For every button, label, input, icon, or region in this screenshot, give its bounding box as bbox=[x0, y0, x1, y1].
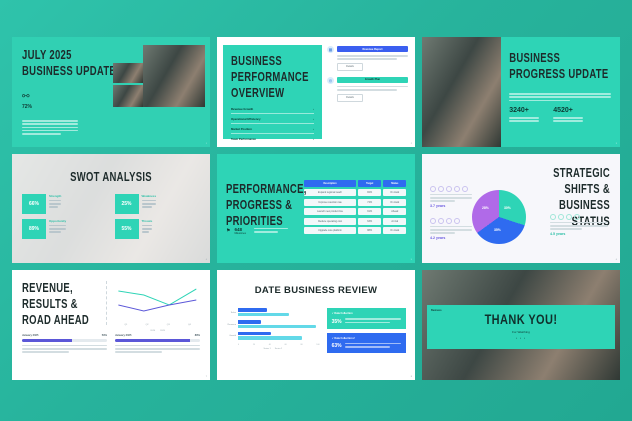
card-heading: ✓ Data Collection 2 bbox=[332, 337, 401, 340]
table-row[interactable]: Upgrade core platform 88% On track bbox=[304, 227, 406, 234]
pie-value-a: 30% bbox=[504, 206, 511, 210]
xtick: 80 bbox=[301, 344, 303, 346]
bar-category-label: Growth bbox=[226, 335, 236, 337]
swot-percent: 66% bbox=[22, 194, 46, 214]
row-label: Team Performance bbox=[231, 137, 256, 141]
slide8-title-wrap: DATE BUSINESS REVIEW bbox=[226, 280, 406, 298]
table-row[interactable]: Improve retention rate 74% On track bbox=[304, 199, 406, 206]
card-data-collection-1[interactable]: ✓ Data Collection 35% bbox=[327, 308, 406, 329]
slide-swot-analysis[interactable]: SWOT ANALYSIS 66% Strength 25% Weakness bbox=[12, 154, 210, 264]
table-cell: At risk bbox=[383, 218, 406, 225]
slide3-page-number: 3 bbox=[616, 143, 617, 145]
table-cell: On track bbox=[383, 189, 406, 196]
slide-title[interactable]: JULY 2025 BUSINESS UPDATE ⚯ 72% 1 bbox=[12, 37, 210, 147]
progress-track bbox=[115, 339, 200, 341]
card-caption bbox=[345, 318, 401, 325]
card-heading-text: Data Collection 2 bbox=[334, 337, 354, 340]
slide1-paragraph bbox=[22, 120, 78, 135]
slide5-left: PERFORMANCE, PROGRESS & PRIORITIES ⚑ 648… bbox=[217, 182, 304, 235]
bar-group: Sales bbox=[226, 308, 320, 317]
line-chart-xticks: Q1 Q2 Q3 Q4 bbox=[115, 324, 200, 326]
revenue-report-button[interactable]: Revenue Report bbox=[337, 46, 408, 52]
stat-caption bbox=[509, 117, 539, 122]
bar-group: Revenue bbox=[226, 320, 320, 329]
table-header-cell: Description bbox=[304, 180, 356, 187]
slide-performance-overview[interactable]: BUSINESS PERFORMANCE OVERVIEW Revenue Gr… bbox=[217, 37, 415, 147]
slide-strategic-shifts[interactable]: STRATEGIC SHIFTS & BUSINESS STATUS 30% 3… bbox=[422, 154, 620, 264]
details-button[interactable]: Details bbox=[337, 94, 363, 102]
progress-label: January 2025 bbox=[22, 334, 38, 337]
photo-office-handshake bbox=[422, 37, 501, 147]
slide8-columns: Sales Revenue Growth bbox=[226, 308, 406, 353]
card-percent: 63% bbox=[332, 343, 342, 349]
swot-text: Strength bbox=[49, 194, 61, 214]
table-cell: Reduce operating cost bbox=[304, 218, 356, 225]
slide1-title: JULY 2025 BUSINESS UPDATE bbox=[22, 48, 121, 80]
line-chart: Q1 Q2 Q3 Q4 2024 2025 bbox=[115, 281, 200, 325]
legend-dots bbox=[430, 186, 472, 192]
brand-logo: Business bbox=[431, 309, 442, 312]
table-cell: Upgrade core platform bbox=[304, 227, 356, 234]
legend-dots bbox=[550, 214, 608, 220]
swot-label: Threats bbox=[142, 219, 153, 223]
slide-progress-update[interactable]: BUSINESS PROGRESS UPDATE 3240+ 4520+ bbox=[422, 37, 620, 147]
dot-icon bbox=[454, 186, 460, 192]
legend-left-2: 4.2 years bbox=[430, 218, 472, 240]
slide7-top: REVENUE, RESULTS & ROAD AHEAD Q1 Q2 Q3 Q… bbox=[22, 281, 200, 325]
dot-icon bbox=[462, 186, 468, 192]
swot-label: Strength bbox=[49, 194, 61, 198]
swot-text: Weakness bbox=[142, 194, 157, 214]
slide-revenue-results[interactable]: REVENUE, RESULTS & ROAD AHEAD Q1 Q2 Q3 Q… bbox=[12, 270, 210, 380]
priorities-table: Description Target Status Expand regiona… bbox=[304, 180, 415, 237]
table-cell: On track bbox=[383, 199, 406, 206]
xtick: Q3 bbox=[167, 324, 170, 326]
slide7-title-col: REVENUE, RESULTS & ROAD AHEAD bbox=[22, 281, 107, 325]
swot-cell-strength: 66% Strength bbox=[22, 194, 108, 214]
slide2-page-number: 2 bbox=[411, 143, 412, 145]
kpi-label: Milestones bbox=[234, 232, 245, 235]
slide3-stats: 3240+ 4520+ bbox=[509, 107, 611, 124]
slide1-page-number: 1 bbox=[206, 143, 207, 145]
card-percent: 35% bbox=[332, 319, 342, 325]
line-chart-svg bbox=[115, 281, 200, 319]
table-cell: 74% bbox=[358, 199, 381, 206]
bar-series-1 bbox=[238, 332, 271, 335]
list-item[interactable]: Team Performance › bbox=[231, 134, 314, 144]
card-body: Revenue Report Details bbox=[337, 46, 408, 71]
slide2-cards: ▦ Revenue Report Details ◎ Growth Plan D… bbox=[322, 37, 415, 147]
photo-team-meeting bbox=[143, 45, 205, 107]
progress-percent: 88% bbox=[195, 334, 200, 337]
swot-text: Opportunity bbox=[49, 219, 66, 239]
dot-icon bbox=[566, 214, 572, 220]
swot-percent: 89% bbox=[22, 219, 46, 239]
swot-cell-opportunity: 89% Opportunity bbox=[22, 219, 108, 239]
table-cell: Expand regional reach bbox=[304, 189, 356, 196]
slide2-title: BUSINESS PERFORMANCE OVERVIEW bbox=[231, 54, 314, 103]
stat-value: 3240+ bbox=[509, 107, 539, 114]
card-body: Growth Plan Details bbox=[337, 77, 408, 102]
thank-you-dots: • • • bbox=[516, 336, 526, 340]
list-item[interactable]: Market Position › bbox=[231, 124, 314, 134]
xtick: Q4 bbox=[188, 324, 191, 326]
slide1-right bbox=[127, 37, 210, 147]
bar-series-1 bbox=[238, 308, 267, 311]
swot-percent: 55% bbox=[115, 219, 139, 239]
dot-icon bbox=[446, 218, 452, 224]
table-cell: 82% bbox=[358, 189, 381, 196]
progress-header: January 2025 59% bbox=[22, 334, 107, 337]
card-growth: ◎ Growth Plan Details bbox=[327, 77, 408, 102]
thank-you-subtitle: For Watching bbox=[512, 330, 530, 334]
stat-caption bbox=[553, 117, 583, 122]
card-text bbox=[337, 86, 408, 91]
stat-block: 3240+ bbox=[509, 107, 539, 124]
slide1-stat: 72% bbox=[22, 104, 121, 110]
slide2-panel: BUSINESS PERFORMANCE OVERVIEW Revenue Gr… bbox=[223, 45, 322, 139]
photo-thumb-2 bbox=[113, 85, 143, 107]
bar-group: Growth bbox=[226, 332, 320, 341]
slide-thank-you[interactable]: Business THANK YOU! For Watching • • • bbox=[422, 270, 620, 380]
bar-category-label: Revenue bbox=[226, 324, 236, 326]
slide3-title: BUSINESS PROGRESS UPDATE bbox=[509, 51, 611, 83]
swot-cell-threats: 55% Threats bbox=[115, 219, 201, 239]
bar-chart-xaxis: 0 20 40 60 80 100 bbox=[226, 344, 320, 346]
dot-icon bbox=[430, 218, 436, 224]
row-label: Market Position bbox=[231, 127, 252, 131]
xtick: 60 bbox=[285, 344, 287, 346]
slide-performance-priorities[interactable]: PERFORMANCE, PROGRESS & PRIORITIES ⚑ 648… bbox=[217, 154, 415, 264]
slide-grid: JULY 2025 BUSINESS UPDATE ⚯ 72% 1 BUSINE… bbox=[0, 0, 632, 421]
slide7-page-number: 7 bbox=[206, 376, 207, 378]
stat-block: 4520+ bbox=[553, 107, 583, 124]
row-label: Revenue Growth bbox=[231, 107, 253, 111]
table-cell: 91% bbox=[358, 208, 381, 215]
bar-pair bbox=[238, 332, 320, 341]
slide1-left: JULY 2025 BUSINESS UPDATE ⚯ 72% bbox=[12, 37, 127, 147]
chevron-right-icon: › bbox=[313, 107, 314, 111]
details-button[interactable]: Details bbox=[337, 63, 363, 71]
dot-icon bbox=[550, 214, 556, 220]
slide4-title-wrap: SWOT ANALYSIS bbox=[22, 165, 200, 183]
slide8-page-number: 8 bbox=[411, 376, 412, 378]
bar-chart-legend: Series 1 Series 2 bbox=[226, 348, 320, 350]
pie-chart: 30% 35% 28% bbox=[472, 190, 526, 244]
table-header-cell: Target bbox=[358, 180, 381, 187]
dot-icon bbox=[574, 214, 580, 220]
slide7-progress-row: January 2025 59% January 2025 88% bbox=[22, 334, 200, 354]
card-text bbox=[337, 55, 408, 60]
line-chart-legend: 2024 2025 bbox=[115, 330, 200, 332]
card-heading: ✓ Data Collection bbox=[332, 312, 401, 315]
progress-percent: 59% bbox=[102, 334, 107, 337]
xtick: Q2 bbox=[146, 324, 149, 326]
swot-label: Weakness bbox=[142, 194, 157, 198]
dot-icon bbox=[558, 214, 564, 220]
slide2-rows: Revenue Growth › Operational Efficiency … bbox=[231, 104, 314, 144]
legend-entry: 2024 bbox=[150, 330, 155, 332]
card-row: 35% bbox=[332, 318, 401, 325]
card-data-collection-2[interactable]: ✓ Data Collection 2 63% bbox=[327, 333, 406, 354]
dot-icon bbox=[454, 218, 460, 224]
slide-date-business-review[interactable]: DATE BUSINESS REVIEW Sales Revenue bbox=[217, 270, 415, 380]
growth-plan-button[interactable]: Growth Plan bbox=[337, 77, 408, 83]
slide1-icon-block: ⚯ 72% bbox=[22, 92, 121, 110]
legend-entry: Series 2 bbox=[275, 348, 282, 350]
chevron-right-icon: › bbox=[313, 127, 314, 131]
swot-text: Threats bbox=[142, 219, 153, 239]
xtick: 40 bbox=[269, 344, 271, 346]
progress-fill bbox=[22, 339, 72, 341]
table-cell: On track bbox=[383, 227, 406, 234]
swot-percent: 25% bbox=[115, 194, 139, 214]
bar-pair bbox=[238, 308, 320, 317]
card-row: 63% bbox=[332, 343, 401, 350]
table-header-row: Description Target Status bbox=[304, 180, 406, 187]
dot-icon bbox=[446, 186, 452, 192]
bar-chart: Sales Revenue Growth bbox=[226, 308, 320, 353]
legend-years: 4.5 years bbox=[550, 232, 608, 236]
legend-left-1: 3.7 years bbox=[430, 186, 472, 208]
slide6-page-number: 6 bbox=[616, 259, 617, 261]
bar-series-1 bbox=[238, 320, 261, 323]
progress-fill bbox=[115, 339, 190, 341]
xtick: Q1 bbox=[124, 324, 127, 326]
progress-block-1: January 2025 59% bbox=[22, 334, 107, 354]
legend-years: 4.2 years bbox=[430, 236, 472, 240]
chevron-right-icon: › bbox=[313, 117, 314, 121]
list-item[interactable]: Operational Efficiency › bbox=[231, 114, 314, 124]
slide4-title: SWOT ANALYSIS bbox=[70, 170, 152, 186]
slide3-text: BUSINESS PROGRESS UPDATE 3240+ 4520+ bbox=[501, 37, 620, 147]
swot-quadrants: 66% Strength 25% Weakness 89% bbox=[22, 194, 200, 239]
bar-series-2 bbox=[238, 325, 316, 328]
progress-label: January 2025 bbox=[115, 334, 131, 337]
slide5-page-number: 5 bbox=[411, 259, 412, 261]
card-revenue: ▦ Revenue Report Details bbox=[327, 46, 408, 71]
pie-value-c: 28% bbox=[482, 206, 489, 210]
thank-you-title: THANK YOU! bbox=[485, 313, 558, 328]
thank-you-banner: Business THANK YOU! For Watching • • • bbox=[427, 305, 615, 349]
bar-series-2 bbox=[238, 313, 289, 316]
xtick: 100 bbox=[316, 344, 319, 346]
table-cell: Launch new product line bbox=[304, 208, 356, 215]
table-cell: Improve retention rate bbox=[304, 199, 356, 206]
progress-block-2: January 2025 88% bbox=[115, 334, 200, 354]
table-row[interactable]: Expand regional reach 82% On track bbox=[304, 189, 406, 196]
pie-value-b: 35% bbox=[494, 228, 501, 232]
legend-entry: Series 1 bbox=[263, 348, 270, 350]
slide4-page-number: 4 bbox=[206, 259, 207, 261]
bar-category-label: Sales bbox=[226, 312, 236, 314]
table-cell: Ahead bbox=[383, 208, 406, 215]
bar-series-2 bbox=[238, 336, 302, 339]
table-cell: 63% bbox=[358, 218, 381, 225]
xtick: 20 bbox=[253, 344, 255, 346]
network-icon: ⚯ bbox=[22, 92, 121, 101]
legend-years: 3.7 years bbox=[430, 204, 472, 208]
progress-header: January 2025 88% bbox=[115, 334, 200, 337]
chevron-right-icon: › bbox=[313, 137, 314, 141]
dot-icon bbox=[438, 218, 444, 224]
xtick: 0 bbox=[238, 344, 239, 346]
dot-icon bbox=[430, 186, 436, 192]
card-heading-text: Data Collection bbox=[334, 312, 352, 315]
row-label: Operational Efficiency bbox=[231, 117, 261, 121]
dot-icon bbox=[438, 186, 444, 192]
slide7-title: REVENUE, RESULTS & ROAD AHEAD bbox=[22, 281, 100, 330]
stat-value: 4520+ bbox=[553, 107, 583, 114]
slide8-cards: ✓ Data Collection 35% ✓ Data Collection … bbox=[327, 308, 406, 353]
target-icon: ◎ bbox=[327, 77, 334, 84]
swot-cell-weakness: 25% Weakness bbox=[115, 194, 201, 214]
table-row[interactable]: Launch new product line 91% Ahead bbox=[304, 208, 406, 215]
table-cell: 88% bbox=[358, 227, 381, 234]
slide5-title: PERFORMANCE, PROGRESS & PRIORITIES bbox=[226, 182, 299, 231]
legend-right-1: 4.5 years bbox=[550, 214, 608, 236]
chart-icon: ▦ bbox=[327, 46, 334, 53]
table-header-cell: Status bbox=[383, 180, 406, 187]
legend-entry: 2025 bbox=[160, 330, 165, 332]
slide3-paragraph bbox=[509, 93, 611, 101]
slide8-title: DATE BUSINESS REVIEW bbox=[255, 285, 377, 296]
legend-dots bbox=[430, 218, 472, 224]
table-row[interactable]: Reduce operating cost 63% At risk bbox=[304, 218, 406, 225]
slide4-content: SWOT ANALYSIS 66% Strength 25% Weakness bbox=[12, 154, 210, 264]
progress-track bbox=[22, 339, 107, 341]
bar-pair bbox=[238, 320, 320, 329]
swot-label: Opportunity bbox=[49, 219, 66, 223]
photo-thumb-1 bbox=[113, 63, 143, 83]
card-caption bbox=[345, 343, 401, 350]
list-item[interactable]: Revenue Growth › bbox=[231, 104, 314, 114]
